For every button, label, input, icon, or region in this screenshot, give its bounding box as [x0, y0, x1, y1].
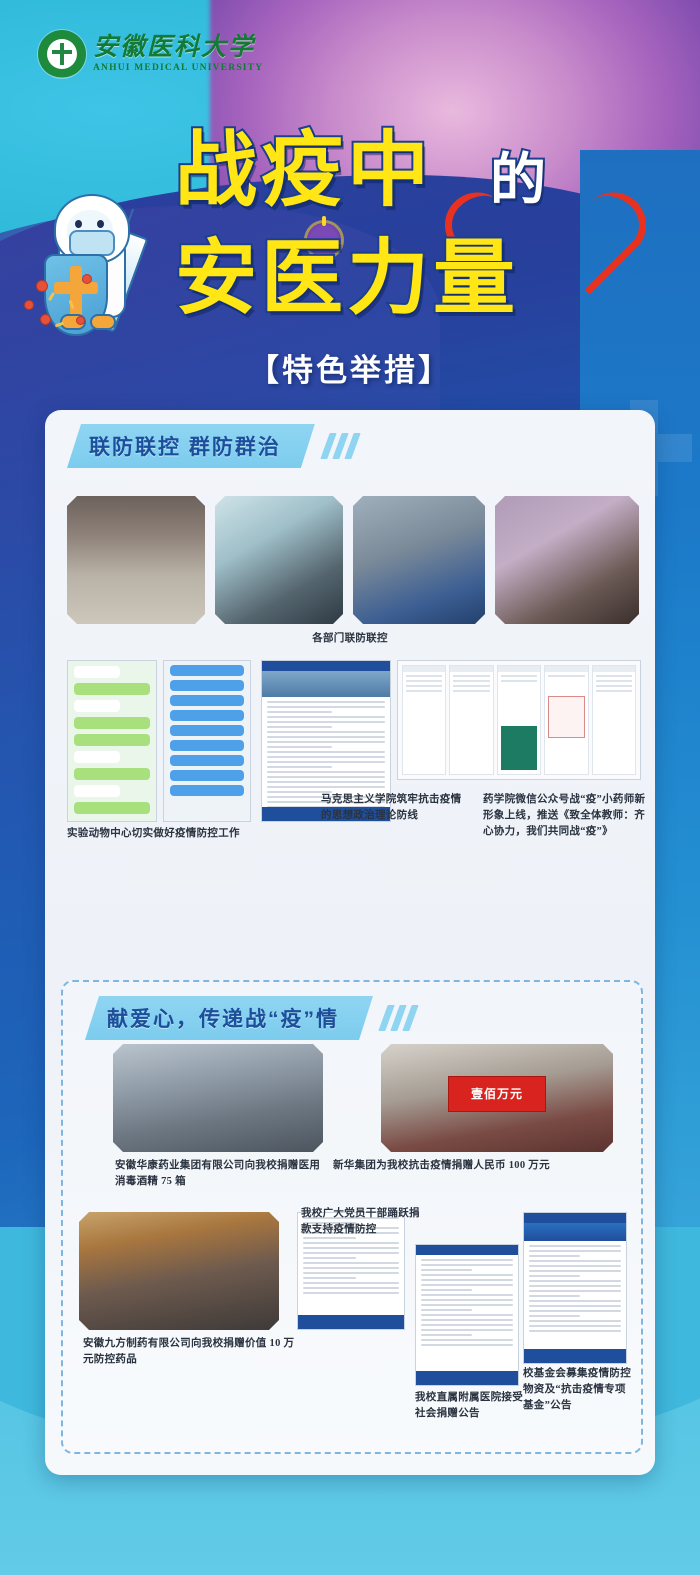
caption-lab-animal-center: 实验动物中心切实做好疫情防控工作 — [67, 826, 287, 842]
slash-decoration-icon — [383, 1005, 414, 1031]
huakang-donation-photo — [113, 1044, 323, 1152]
donation-cheque-banner: 壹佰万元 — [448, 1076, 546, 1112]
pharmacy-wechat-articles-screenshot — [397, 660, 641, 780]
title-line-1: 战疫中 — [175, 103, 433, 222]
security-guard-checkpoint-photo — [353, 496, 485, 624]
university-name-cn: 安徽医科大学 — [93, 35, 263, 60]
caption-jiufang-donation: 安徽九方制药有限公司向我校捐赠价值 10 万元防控药品 — [83, 1336, 297, 1368]
university-seal-icon — [38, 30, 86, 78]
affiliated-hospital-notice-screenshot — [415, 1244, 519, 1386]
section-donation-panel: 献爱心，传递战“疫”情 壹佰万元 安徽华康药业集团有限公司向我校捐赠医用消毒酒精… — [61, 980, 643, 1454]
section-2-ribbon: 献爱心，传递战“疫”情 — [85, 996, 373, 1040]
title-line-2: 安医力量 — [175, 211, 519, 330]
university-logo-text: 安徽医科大学 ANHUI MEDICAL UNIVERSITY — [93, 35, 263, 74]
caption-xinhua-donation: 新华集团为我校抗击疫情捐赠人民币 100 万元 — [333, 1158, 565, 1174]
temperature-check-window-photo — [215, 496, 343, 624]
section-joint-prevention: 联防联控 群防群治 各部门联防联控 — [45, 424, 655, 468]
page-subtitle: 【特色举措】 — [0, 345, 700, 390]
xinhua-group-donation-photo: 壹佰万元 — [381, 1044, 613, 1152]
section-2-heading-row: 献爱心，传递战“疫”情 — [85, 996, 414, 1040]
lab-animal-center-chat-screenshots — [67, 660, 157, 822]
section-1-title: 联防联控 群防群治 — [89, 436, 281, 459]
caption-huakang-donation: 安徽华康药业集团有限公司向我校捐赠医用消毒酒精 75 箱 — [115, 1158, 325, 1190]
title-particle-de: 的 — [490, 135, 546, 216]
section-1-ribbon: 联防联控 群防群治 — [67, 424, 315, 468]
canteen-distancing-photo — [67, 496, 205, 624]
caption-hospital-notice: 我校直属附属医院接受社会捐赠公告 — [415, 1390, 523, 1422]
university-logo: 安徽医科大学 ANHUI MEDICAL UNIVERSITY — [38, 30, 263, 78]
section-2-second-row: 安徽九方制药有限公司向我校捐赠价值 10 万元防控药品 我校广大党员干部踊跃捐款… — [79, 1212, 625, 1412]
section-2-photo-row: 壹佰万元 — [113, 1044, 613, 1154]
entrance-temperature-check-photo — [495, 496, 639, 624]
section-1-heading-row: 联防联控 群防群治 — [67, 424, 655, 468]
lab-animal-center-chat-screenshots-2 — [163, 660, 251, 822]
caption-pharmacy-wechat: 药学院微信公众号战“疫”小药师新形象上线，推送《致全体教师：齐心协力，我们共同战… — [483, 792, 655, 839]
photo-row-caption: 各部门联防联控 — [45, 631, 655, 647]
section-1-photo-row — [67, 496, 639, 626]
donation-amount-text: 壹佰万元 — [471, 1085, 523, 1102]
slash-decoration-icon — [325, 433, 356, 459]
caption-foundation-notice: 校基金会募集疫情防控物资及“抗击疫情专项基金”公告 — [523, 1366, 635, 1413]
caption-marxism-school: 马克思主义学院筑牢抗击疫情的思想政治理论防线 — [321, 792, 471, 824]
poster-canvas: 安徽医科大学 ANHUI MEDICAL UNIVERSITY 战疫中 的 安医… — [0, 0, 700, 1575]
caption-party-members-donation: 我校广大党员干部踊跃捐款支持疫情防控 — [301, 1206, 421, 1238]
jiufang-pharma-donation-photo — [79, 1212, 279, 1330]
content-card: 联防联控 群防群治 各部门联防联控 — [45, 410, 655, 1475]
section-2-title: 献爱心，传递战“疫”情 — [107, 1008, 339, 1031]
university-name-en: ANHUI MEDICAL UNIVERSITY — [93, 64, 263, 74]
foundation-fund-notice-screenshot — [523, 1212, 627, 1364]
